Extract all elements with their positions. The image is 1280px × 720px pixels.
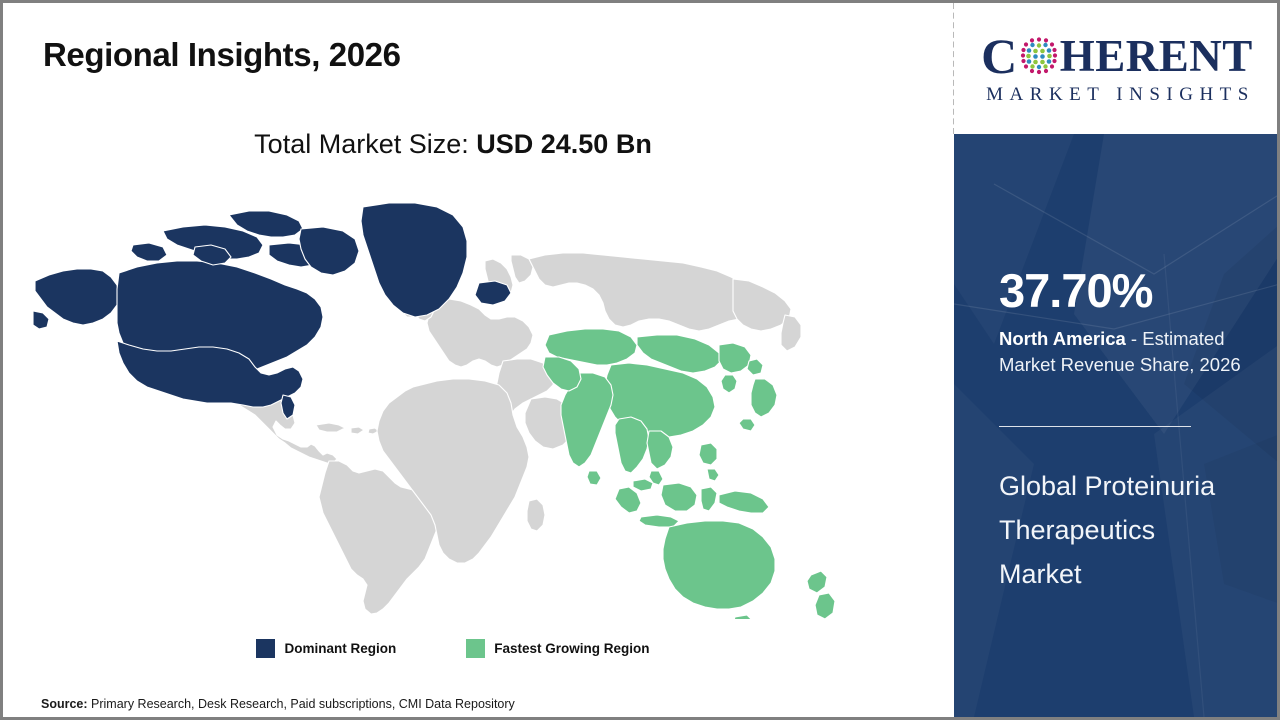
stat-percentage: 37.70% bbox=[999, 267, 1152, 314]
left-content-panel: Regional Insights, 2026 Total Market Siz… bbox=[3, 3, 953, 717]
source-label: Source: bbox=[41, 697, 88, 711]
total-market-size-value: USD 24.50 Bn bbox=[476, 129, 652, 159]
globe-dots-icon bbox=[1019, 35, 1059, 75]
sidebar-stat-panel: 37.70% North America - Estimated Market … bbox=[954, 134, 1280, 717]
regional-insights-infographic: Regional Insights, 2026 Total Market Siz… bbox=[0, 0, 1280, 720]
world-map bbox=[33, 189, 853, 619]
legend-label-dominant: Dominant Region bbox=[284, 641, 396, 656]
sidebar-divider-rule bbox=[999, 426, 1191, 427]
legend-item-dominant: Dominant Region bbox=[256, 639, 396, 658]
map-legend: Dominant Region Fastest Growing Region bbox=[3, 639, 903, 658]
source-text: Primary Research, Desk Research, Paid su… bbox=[88, 697, 515, 711]
legend-label-fastest-growing: Fastest Growing Region bbox=[494, 641, 649, 656]
brand-word-lead: C bbox=[981, 31, 1018, 81]
brand-wordmark: C bbox=[981, 31, 1253, 81]
source-line: Source: Primary Research, Desk Research,… bbox=[41, 697, 515, 711]
brand-word-rest: HERENT bbox=[1060, 34, 1253, 79]
market-report-name: Global Proteinuria Therapeutics Market bbox=[999, 464, 1234, 596]
total-market-size-line: Total Market Size: USD 24.50 Bn bbox=[3, 129, 903, 160]
world-map-svg bbox=[33, 189, 853, 619]
stat-region-name: North America bbox=[999, 328, 1126, 349]
map-region-asia-pacific bbox=[543, 329, 835, 619]
legend-item-fastest-growing: Fastest Growing Region bbox=[466, 639, 649, 658]
legend-swatch-fastest-growing bbox=[466, 639, 485, 658]
brand-logo: C bbox=[954, 3, 1280, 134]
stat-description: North America - Estimated Market Revenue… bbox=[999, 326, 1267, 379]
total-market-size-label: Total Market Size: bbox=[254, 129, 476, 159]
right-sidebar: C bbox=[954, 3, 1280, 717]
page-title: Regional Insights, 2026 bbox=[43, 36, 401, 74]
legend-swatch-dominant bbox=[256, 639, 275, 658]
brand-tagline: MARKET INSIGHTS bbox=[979, 84, 1255, 106]
